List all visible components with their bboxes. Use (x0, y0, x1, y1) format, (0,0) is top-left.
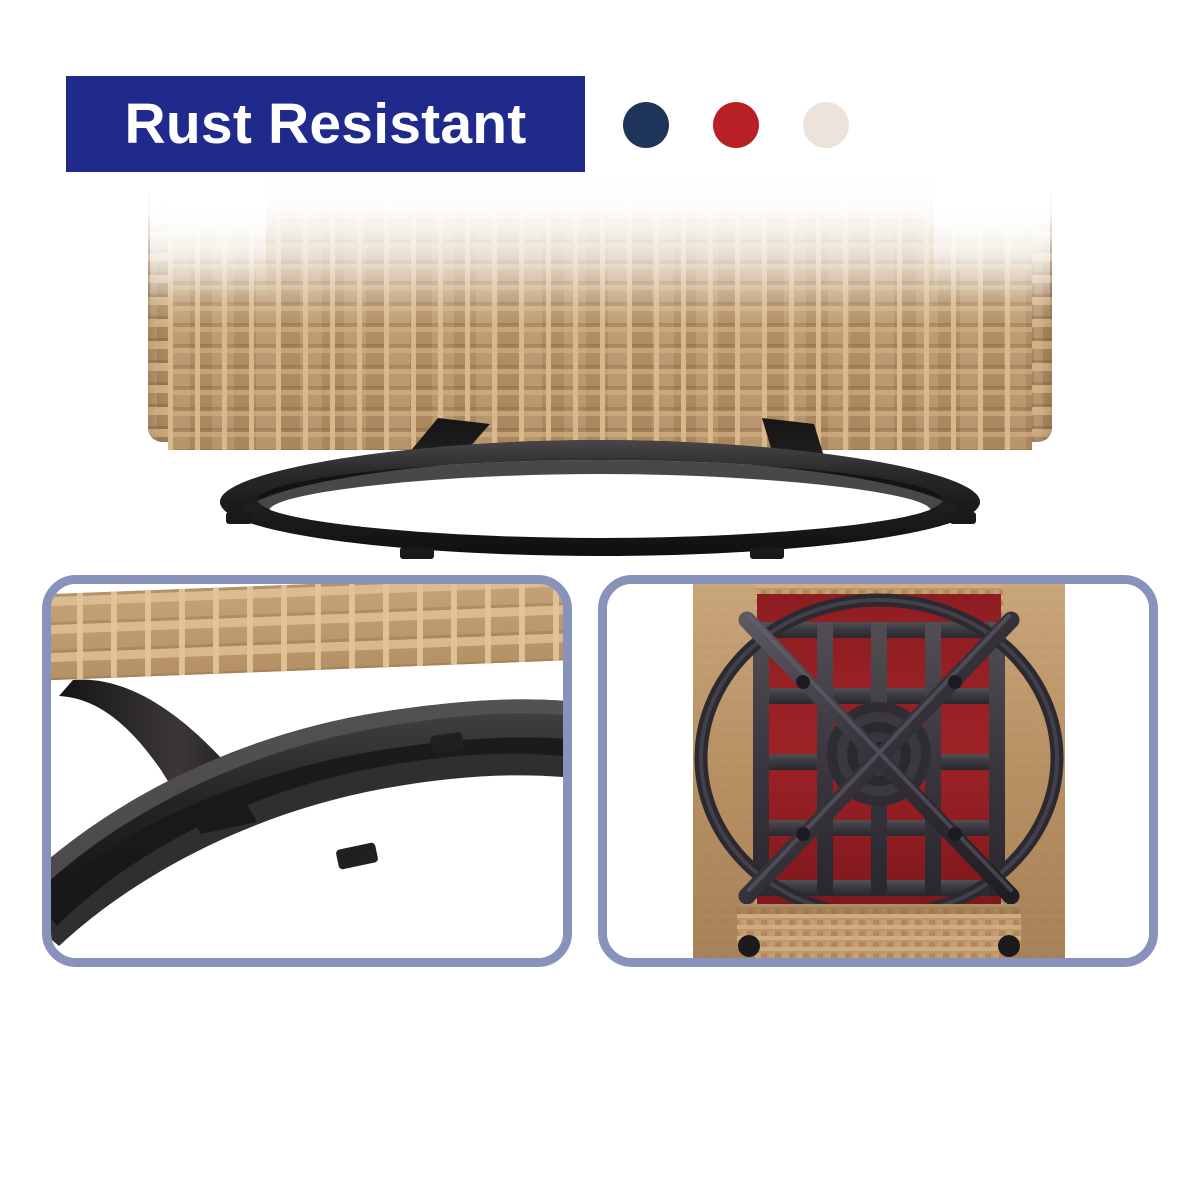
product-feature-image: Rust Resistant (0, 0, 1200, 1200)
swatch-cream[interactable] (803, 102, 849, 148)
feature-badge-label: Rust Resistant (125, 96, 527, 153)
detail-card-row (0, 575, 1200, 970)
color-swatch-group (623, 101, 883, 149)
card-underside-media (607, 584, 1149, 958)
arm-fade-right (934, 178, 1052, 298)
card-base-ring-closeup (42, 575, 572, 967)
feature-caption: The base is made of powder coated steel … (60, 995, 1140, 1163)
card-base-ring-media (51, 584, 563, 958)
card-underside-mechanism (598, 575, 1158, 967)
arm-fade-left (148, 178, 266, 298)
feature-badge: Rust Resistant (66, 76, 585, 172)
swivel-base-ring (190, 416, 1010, 561)
swatch-navy[interactable] (623, 102, 669, 148)
swatch-red[interactable] (713, 102, 759, 148)
hero-product-image (0, 178, 1200, 580)
wicker-seat-body (168, 178, 1032, 450)
